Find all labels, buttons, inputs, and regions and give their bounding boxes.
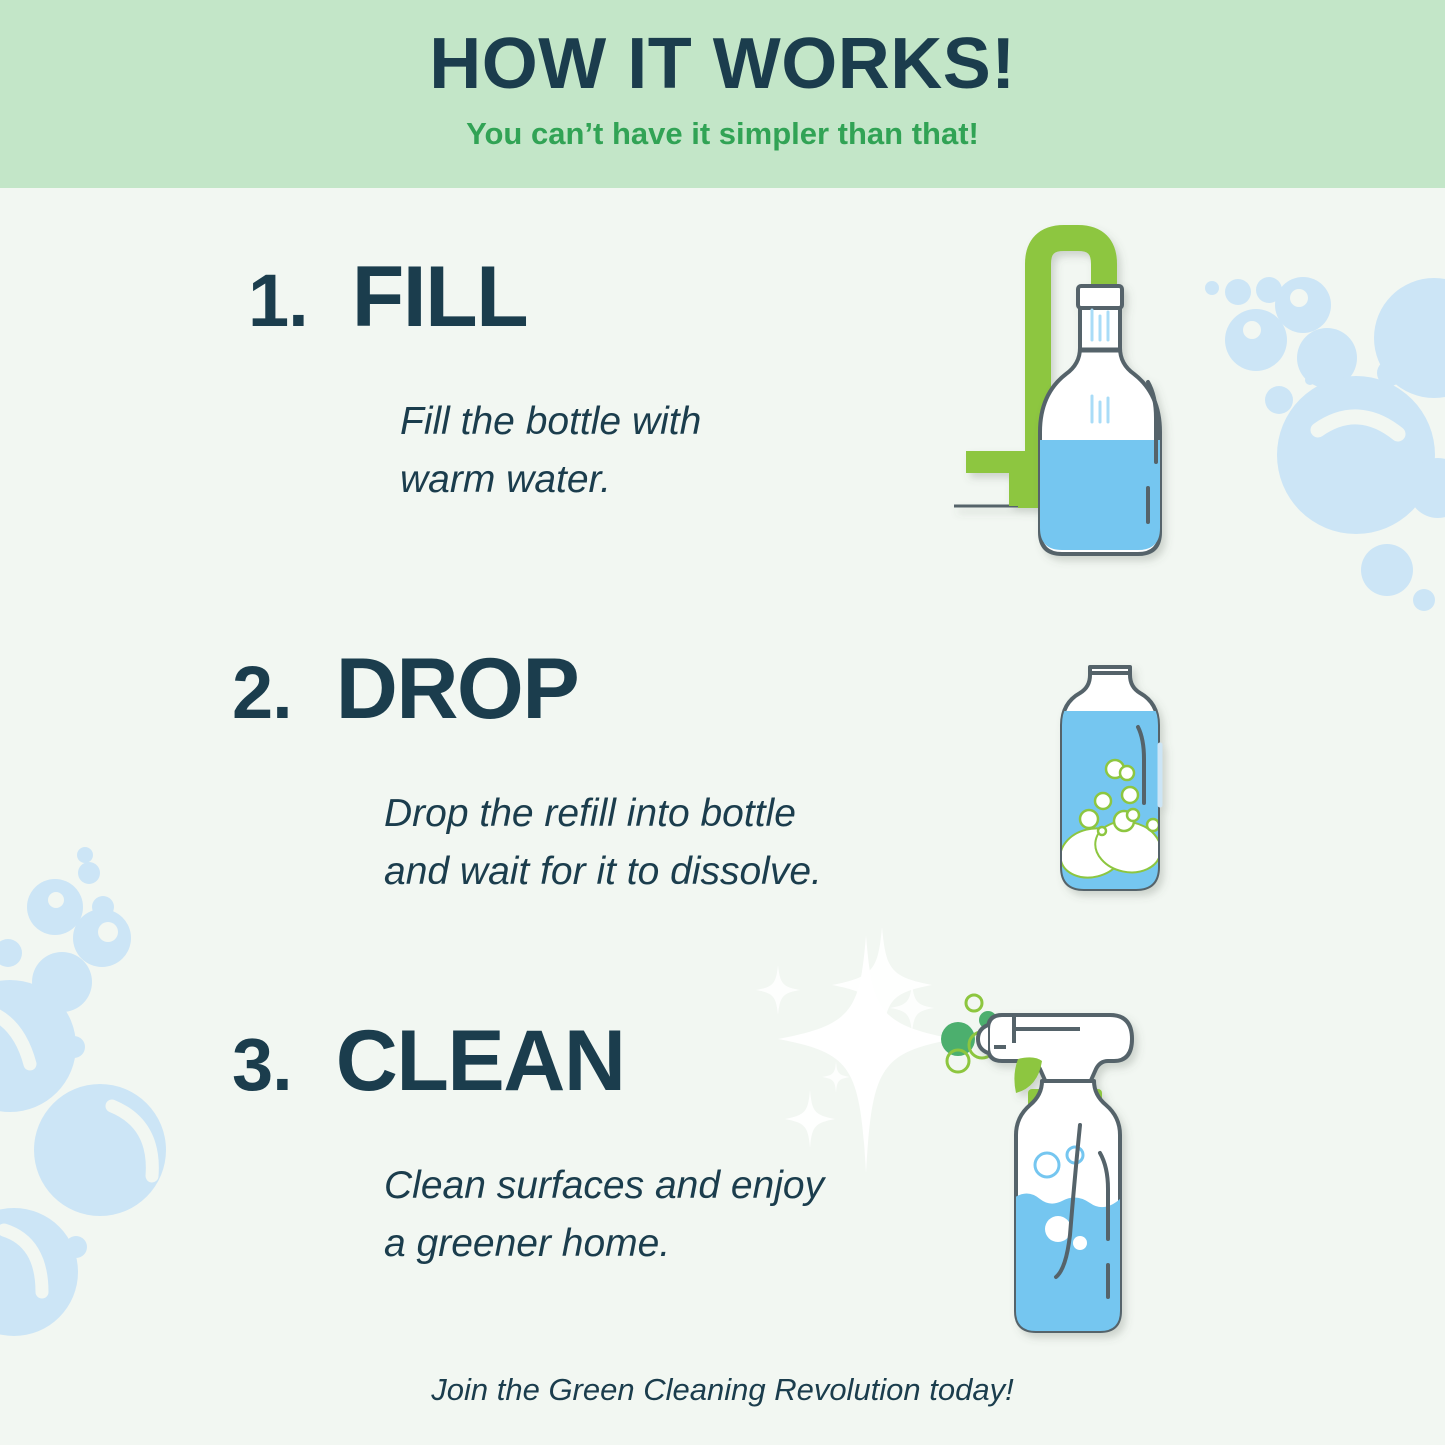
step-3-word: CLEAN	[336, 1012, 625, 1111]
header-band: HOW IT WORKS! You can’t have it simpler …	[0, 0, 1445, 188]
step-2-description-line-2: and wait for it to dissolve.	[384, 843, 822, 901]
step-3-number: 3.	[232, 1022, 292, 1107]
bottle-with-dissolving-tablets-icon	[1020, 645, 1220, 935]
step-2: 2. DROP Drop the refill into bottle and …	[232, 640, 822, 900]
page-subtitle: You can’t have it simpler than that!	[466, 116, 979, 152]
step-2-number: 2.	[232, 650, 292, 735]
page-title: HOW IT WORKS!	[429, 28, 1015, 100]
faucet-filling-bottle-icon	[920, 200, 1240, 570]
step-3-description-line-1: Clean surfaces and enjoy	[384, 1157, 824, 1215]
step-1-number: 1.	[248, 258, 308, 343]
step-2-description: Drop the refill into bottle and wait for…	[384, 785, 822, 900]
step-2-word: DROP	[336, 640, 578, 739]
spray-bottle-icon	[930, 985, 1230, 1365]
step-1-word: FILL	[352, 248, 528, 347]
step-1-description-line-2: warm water.	[400, 451, 701, 509]
step-1-description-line-1: Fill the bottle with	[400, 393, 701, 451]
step-3-description: Clean surfaces and enjoy a greener home.	[384, 1157, 824, 1272]
infographic-page: 1. FILL Fill the bottle with warm water.	[0, 0, 1445, 1445]
step-1-description: Fill the bottle with warm water.	[400, 393, 701, 508]
step-2-heading: 2. DROP	[232, 640, 822, 739]
step-3-heading: 3. CLEAN	[232, 1012, 824, 1111]
step-3-description-line-2: a greener home.	[384, 1215, 824, 1273]
footer-tagline: Join the Green Cleaning Revolution today…	[0, 1372, 1445, 1408]
step-2-description-line-1: Drop the refill into bottle	[384, 785, 822, 843]
step-1: 1. FILL Fill the bottle with warm water.	[248, 248, 701, 508]
step-3: 3. CLEAN Clean surfaces and enjoy a gree…	[232, 1012, 824, 1272]
step-1-heading: 1. FILL	[248, 248, 701, 347]
